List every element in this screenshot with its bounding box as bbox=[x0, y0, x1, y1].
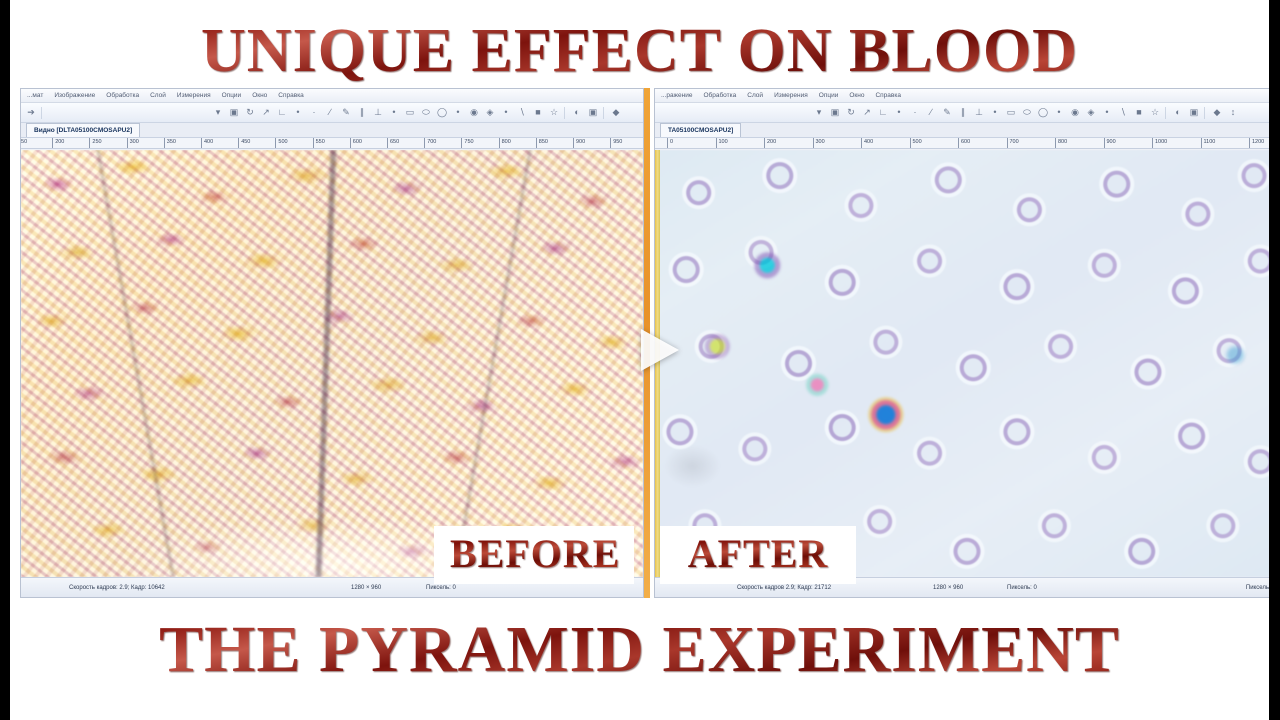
toolbar-separator-2 bbox=[564, 107, 567, 119]
ellipse-icon[interactable]: ⬭ bbox=[420, 107, 432, 119]
status-pixel-right: Пиксель: 0 bbox=[1007, 585, 1037, 591]
ruler-tick: 200 bbox=[764, 138, 776, 149]
toolbar-separator-r bbox=[1165, 107, 1168, 119]
rotate-icon[interactable]: ↻ bbox=[845, 107, 857, 119]
ruler-tick: 800 bbox=[1055, 138, 1067, 149]
ruler-tick: 250 bbox=[89, 138, 101, 149]
toolbar-left: ➔ ▾ ▣ ↻ ↗ ∟ • · ∕ ✎ ∥ ⊥ • ▭ ⬭ ◯ • ◉ ◈ bbox=[21, 103, 643, 123]
ruler-tick: 1000 bbox=[1152, 138, 1167, 149]
menu-item-options-r[interactable]: Опции bbox=[819, 92, 839, 99]
ruler-tick: 500 bbox=[910, 138, 922, 149]
dot5-icon[interactable]: • bbox=[500, 107, 512, 119]
letterbox-right bbox=[1269, 0, 1280, 720]
point-icon[interactable]: ↗ bbox=[861, 107, 873, 119]
status-framerate-right: Скорость кадров 2.9; Кадр: 21712 bbox=[737, 585, 831, 591]
microscope-app-left: ...мат Изображение Обработка Слой Измере… bbox=[20, 88, 644, 598]
menu-item-measurements[interactable]: Измерения bbox=[177, 92, 211, 99]
status-pixel-left: Пиксель: 0 bbox=[426, 585, 456, 591]
menu-item-options[interactable]: Опции bbox=[222, 92, 242, 99]
select-rect-icon[interactable]: ▣ bbox=[228, 107, 240, 119]
tabstrip-right: TA05100CMOSAPU2] bbox=[655, 123, 1269, 138]
angle-icon[interactable]: ∟ bbox=[877, 107, 889, 119]
line-icon[interactable]: ∕ bbox=[925, 107, 937, 119]
layers-icon[interactable]: ◆ bbox=[1211, 107, 1223, 119]
dot4-icon[interactable]: • bbox=[1053, 107, 1065, 119]
ruler-tick: 0 bbox=[667, 138, 673, 149]
line-icon[interactable]: ∕ bbox=[324, 107, 336, 119]
document-tab-left[interactable]: Видно [DLTA05100CMOSAPU2] bbox=[26, 123, 140, 137]
star-icon[interactable]: ☆ bbox=[548, 107, 560, 119]
ruler-tick: 350 bbox=[164, 138, 176, 149]
video-canvas: UNIQUE EFFECT ON BLOOD ...мат Изображени… bbox=[10, 0, 1269, 720]
ruler-tick: 600 bbox=[350, 138, 362, 149]
parallel-icon[interactable]: ∥ bbox=[356, 107, 368, 119]
dot3-icon[interactable]: • bbox=[989, 107, 1001, 119]
menu-item-processing-r[interactable]: Обработка bbox=[703, 92, 736, 99]
angle-icon[interactable]: ∟ bbox=[276, 107, 288, 119]
ruler-tick: 550 bbox=[313, 138, 325, 149]
toolbar-right: ▾ ▣ ↻ ↗ ∟ • · ∕ ✎ ∥ ⊥ • ▭ ⬭ ◯ • ◉ ◈ • ∖ bbox=[655, 103, 1269, 123]
measure-icon[interactable]: ↕ bbox=[1227, 107, 1239, 119]
circle-icon[interactable]: ◯ bbox=[436, 107, 448, 119]
dot2-icon[interactable]: · bbox=[909, 107, 921, 119]
text-icon[interactable]: ■ bbox=[1133, 107, 1145, 119]
perpendicular-icon[interactable]: ⊥ bbox=[973, 107, 985, 119]
play-triangle-icon bbox=[625, 319, 687, 381]
ruler-tick: 800 bbox=[499, 138, 511, 149]
ruler-tick: 700 bbox=[1007, 138, 1019, 149]
toolbar-separator-r2 bbox=[1204, 107, 1207, 119]
star-icon[interactable]: ☆ bbox=[1149, 107, 1161, 119]
polyline-icon[interactable]: ∖ bbox=[516, 107, 528, 119]
menu-item-image[interactable]: Изображение bbox=[54, 92, 95, 99]
annulus-icon[interactable]: ◉ bbox=[468, 107, 480, 119]
rotate-icon[interactable]: ↻ bbox=[244, 107, 256, 119]
dot-icon[interactable]: • bbox=[893, 107, 905, 119]
status-framerate-left: Скорость кадров: 2.9; Кадр: 10642 bbox=[69, 585, 165, 591]
ruler-tick: 900 bbox=[1104, 138, 1116, 149]
ruler-tick: 500 bbox=[275, 138, 287, 149]
menu-item-processing[interactable]: Обработка bbox=[106, 92, 139, 99]
horizontal-ruler-left: 1502002503003504004505005506006507007508… bbox=[21, 138, 643, 149]
layers-icon[interactable]: ◆ bbox=[610, 107, 622, 119]
dot5-icon[interactable]: • bbox=[1101, 107, 1113, 119]
pencil-icon[interactable]: ✎ bbox=[941, 107, 953, 119]
palette-icon[interactable]: ◐ bbox=[571, 107, 583, 119]
ruler-tick: 950 bbox=[610, 138, 622, 149]
status-dimensions-right: 1280 × 960 bbox=[933, 585, 963, 591]
ellipse-icon[interactable]: ⬭ bbox=[1021, 107, 1033, 119]
arrow-pointer-icon[interactable]: ➔ bbox=[25, 107, 37, 119]
horizontal-ruler-right: 0100200300400500600700800900100011001200 bbox=[655, 138, 1269, 149]
label-after: AFTER bbox=[660, 526, 856, 584]
status-unit-right: Пиксель bbox=[1246, 585, 1269, 591]
pencil-icon[interactable]: ✎ bbox=[340, 107, 352, 119]
ruler-tick: 700 bbox=[424, 138, 436, 149]
image-viewport-left[interactable] bbox=[21, 150, 643, 577]
document-tab-right[interactable]: TA05100CMOSAPU2] bbox=[660, 123, 741, 137]
ruler-tick: 450 bbox=[238, 138, 250, 149]
two-circles-icon[interactable]: ◈ bbox=[484, 107, 496, 119]
chevron-down-icon[interactable]: ▾ bbox=[813, 107, 825, 119]
ruler-tick: 300 bbox=[813, 138, 825, 149]
perpendicular-icon[interactable]: ⊥ bbox=[372, 107, 384, 119]
label-before: BEFORE bbox=[434, 526, 634, 584]
ruler-tick: 850 bbox=[536, 138, 548, 149]
toolbar-separator-3 bbox=[603, 107, 606, 119]
ruler-tick: 150 bbox=[21, 138, 27, 149]
menu-item-image-r[interactable]: ...ражение bbox=[661, 92, 692, 99]
dot-icon[interactable]: • bbox=[292, 107, 304, 119]
video-frame: UNIQUE EFFECT ON BLOOD ...мат Изображени… bbox=[0, 0, 1280, 720]
ruler-tick: 200 bbox=[52, 138, 64, 149]
ruler-tick: 600 bbox=[958, 138, 970, 149]
menu-item-help[interactable]: Справка bbox=[278, 92, 304, 99]
menu-item-window[interactable]: Окно bbox=[252, 92, 267, 99]
ruler-tick: 100 bbox=[716, 138, 728, 149]
polyline-icon[interactable]: ∖ bbox=[1117, 107, 1129, 119]
ruler-tick: 900 bbox=[573, 138, 585, 149]
select-rect-icon[interactable]: ▣ bbox=[829, 107, 841, 119]
menu-item-measurements-r[interactable]: Измерения bbox=[774, 92, 808, 99]
status-dimensions-left: 1280 × 960 bbox=[351, 585, 381, 591]
ruler-tick: 1200 bbox=[1249, 138, 1264, 149]
circle-icon[interactable]: ◯ bbox=[1037, 107, 1049, 119]
dot4-icon[interactable]: • bbox=[452, 107, 464, 119]
page-title-top: UNIQUE EFFECT ON BLOOD bbox=[10, 18, 1269, 84]
menu-item-window-r[interactable]: Окно bbox=[849, 92, 864, 99]
image-viewport-right[interactable] bbox=[655, 150, 1269, 577]
ruler-tick: 300 bbox=[127, 138, 139, 149]
toolbar-separator bbox=[41, 107, 44, 119]
page-title-bottom: THE PYRAMID EXPERIMENT bbox=[10, 614, 1269, 686]
ruler-tick: 400 bbox=[861, 138, 873, 149]
point-icon[interactable]: ↗ bbox=[260, 107, 272, 119]
annulus-icon[interactable]: ◉ bbox=[1069, 107, 1081, 119]
play-button[interactable] bbox=[606, 302, 706, 398]
blood-sample-image-before bbox=[21, 150, 643, 577]
parallel-icon[interactable]: ∥ bbox=[957, 107, 969, 119]
two-circles-icon[interactable]: ◈ bbox=[1085, 107, 1097, 119]
blood-sample-image-after bbox=[655, 150, 1269, 577]
menu-item-format[interactable]: ...мат bbox=[27, 92, 43, 99]
palette-icon[interactable]: ◐ bbox=[1172, 107, 1184, 119]
tabstrip-left: Видно [DLTA05100CMOSAPU2] bbox=[21, 123, 643, 138]
calibrate-icon[interactable]: ▣ bbox=[1188, 107, 1200, 119]
menubar-right: ...ражение Обработка Слой Измерения Опци… bbox=[655, 89, 1269, 103]
ruler-tick: 650 bbox=[387, 138, 399, 149]
calibrate-icon[interactable]: ▣ bbox=[587, 107, 599, 119]
menu-item-help-r[interactable]: Справка bbox=[875, 92, 901, 99]
ruler-tick: 1100 bbox=[1201, 138, 1216, 149]
chevron-down-icon[interactable]: ▾ bbox=[212, 107, 224, 119]
text-icon[interactable]: ■ bbox=[532, 107, 544, 119]
letterbox-left bbox=[0, 0, 10, 720]
menubar-left: ...мат Изображение Обработка Слой Измере… bbox=[21, 89, 643, 103]
menu-item-layer[interactable]: Слой bbox=[150, 92, 166, 99]
rectangle-icon[interactable]: ▭ bbox=[1005, 107, 1017, 119]
ruler-tick: 400 bbox=[201, 138, 213, 149]
dot2-icon[interactable]: · bbox=[308, 107, 320, 119]
dot3-icon[interactable]: • bbox=[388, 107, 400, 119]
menu-item-layer-r[interactable]: Слой bbox=[747, 92, 763, 99]
rectangle-icon[interactable]: ▭ bbox=[404, 107, 416, 119]
microscope-app-right: ...ражение Обработка Слой Измерения Опци… bbox=[654, 88, 1269, 598]
ruler-tick: 750 bbox=[461, 138, 473, 149]
